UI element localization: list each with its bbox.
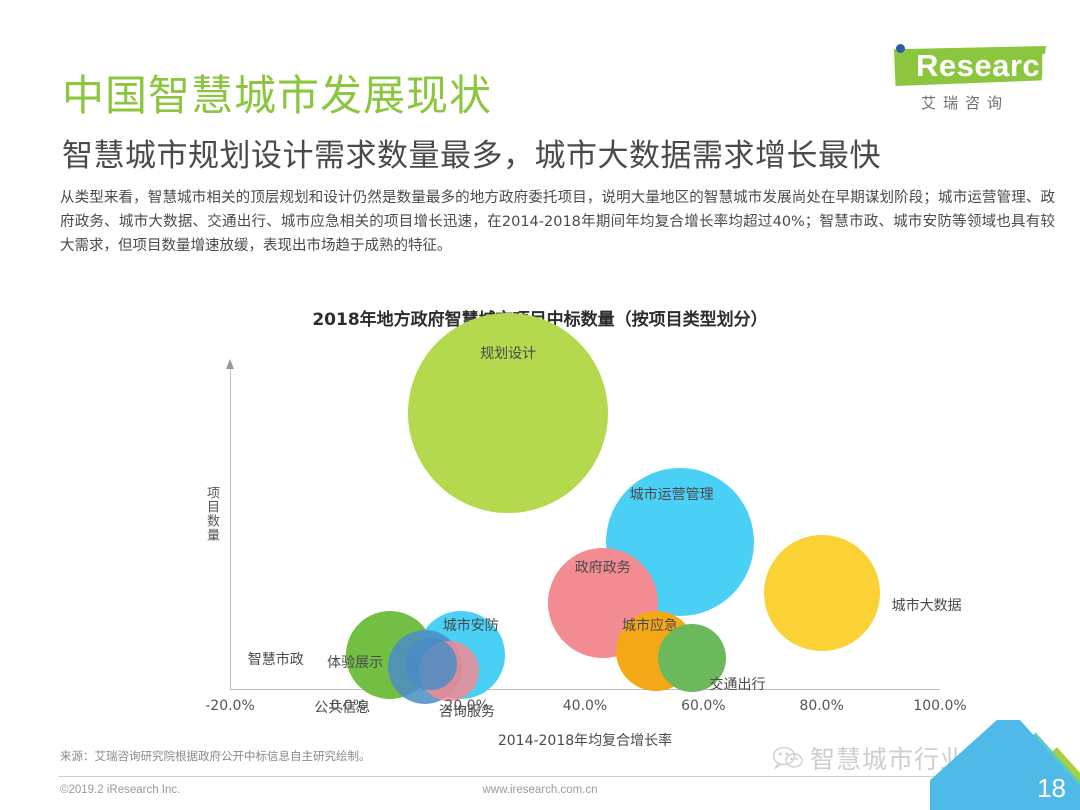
logo-i-dot-icon — [896, 44, 905, 53]
x-tick-label: 0.0% — [308, 698, 388, 714]
x-tick-label: 100.0% — [900, 698, 980, 714]
logo-i-stem — [897, 56, 904, 85]
page-title: 中国智慧城市发展现状 — [62, 62, 492, 123]
logo-chinese-name: 艾瑞咨询 — [872, 92, 1052, 113]
logo-wordmark: Research — [916, 48, 1060, 84]
bubble-体验展示[interactable] — [405, 638, 457, 690]
bubble-chart: 项目数量 规划设计城市运营管理城市大数据政府政务智慧市政城市安防公共信息咨询服务… — [230, 368, 940, 690]
iresearch-logo: Research 艾瑞咨询 — [872, 42, 1052, 113]
bubble-label: 交通出行 — [710, 674, 766, 694]
y-axis-label: 项目数量 — [202, 486, 221, 542]
website-url: www.iresearch.com.cn — [0, 784, 1080, 796]
bubble-label: 体验展示 — [327, 652, 383, 672]
x-tick-label: 40.0% — [545, 698, 625, 714]
page-subtitle: 智慧城市规划设计需求数量最多，城市大数据需求增长最快 — [62, 130, 881, 175]
bubble-label: 规划设计 — [480, 343, 536, 363]
bubble-label: 智慧市政 — [248, 649, 304, 669]
y-axis — [230, 368, 231, 690]
x-axis — [230, 689, 940, 690]
wechat-icon — [773, 747, 803, 769]
x-tick-label: -20.0% — [190, 698, 270, 714]
logo-mark: Research — [872, 42, 1052, 90]
bubble-label: 城市运营管理 — [630, 484, 714, 504]
x-tick-label: 80.0% — [782, 698, 862, 714]
bubble-label: 政府政务 — [575, 557, 631, 577]
bubble-城市大数据[interactable] — [764, 535, 880, 651]
page-number: 18 — [1037, 773, 1066, 804]
body-paragraph: 从类型来看，智慧城市相关的顶层规划和设计仍然是数量最多的地方政府委托项目，说明大… — [60, 186, 1055, 258]
x-tick-label: 20.0% — [427, 698, 507, 714]
x-axis-ticks: -20.0%0.0%20.0%40.0%60.0%80.0%100.0% — [190, 698, 980, 718]
x-tick-label: 60.0% — [663, 698, 743, 714]
y-axis-arrow-icon — [226, 359, 234, 369]
slide: Research 艾瑞咨询 中国智慧城市发展现状 智慧城市规划设计需求数量最多，… — [0, 0, 1080, 810]
bubble-label: 城市安防 — [443, 615, 499, 635]
source-note: 来源：艾瑞咨询研究院根据政府公开中标信息自主研究绘制。 — [60, 748, 371, 764]
bubble-label: 城市大数据 — [892, 595, 962, 615]
footer-divider — [58, 776, 1022, 777]
